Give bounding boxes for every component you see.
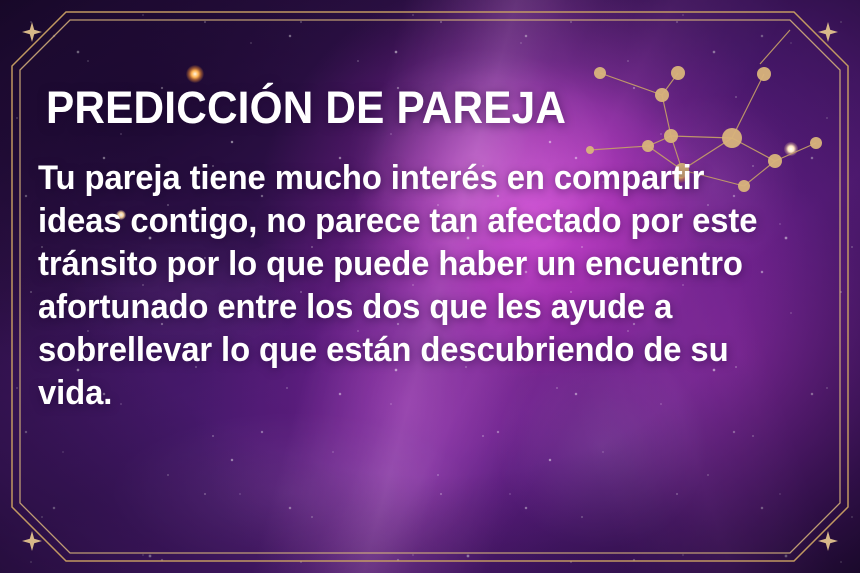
page-title: PREDICCIÓN DE PAREJA	[46, 84, 774, 133]
horoscope-prediction-card: PREDICCIÓN DE PAREJA Tu pareja tiene muc…	[0, 0, 860, 573]
card-content: PREDICCIÓN DE PAREJA Tu pareja tiene muc…	[46, 84, 820, 415]
prediction-body-text: Tu pareja tiene mucho interés en compart…	[38, 157, 793, 415]
